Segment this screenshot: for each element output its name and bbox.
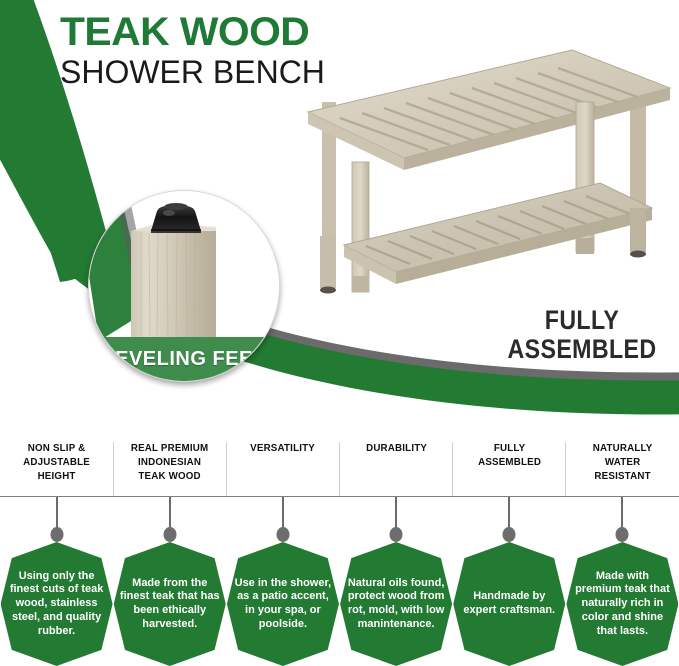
feature-hexagon: Using only the finest cuts of teak wood,…	[1, 542, 113, 666]
feature-headings-row: NON SLIP & ADJUSTABLE HEIGHT REAL PREMIU…	[0, 440, 679, 496]
leg-block	[131, 231, 216, 343]
pin-dot-icon	[276, 527, 289, 542]
feature-pin	[453, 497, 566, 547]
feature-pin	[0, 497, 113, 547]
feature-detail-text: Natural oils found, protect wood from ro…	[344, 577, 448, 632]
feature-hexagon: Use in the shower, as a patio accent, in…	[227, 542, 339, 666]
heading-line: TEAK WOOD	[117, 470, 222, 484]
heading-line: ADJUSTABLE	[4, 456, 109, 470]
heading-line: INDONESIAN	[117, 456, 222, 470]
heading-line: NON SLIP &	[4, 442, 109, 456]
feature-hexagon: Made from the finest teak that has been …	[114, 542, 226, 666]
feature-pin	[113, 497, 226, 547]
bench-foot-front-left	[352, 276, 369, 292]
heading-line: HEIGHT	[4, 470, 109, 484]
bench-foot-front-right	[576, 238, 594, 254]
heading-line: WATER	[570, 456, 675, 470]
heading-line: REAL PREMIUM	[117, 442, 222, 456]
feature-detail-text: Made with premium teak that naturally ri…	[570, 570, 674, 639]
feature-heading: DURABILITY	[343, 440, 448, 496]
pin-dot-icon	[163, 527, 176, 542]
heading-line: RESISTANT	[570, 470, 675, 484]
fully-assembled-line-1: FULLY	[505, 306, 660, 335]
bench-rubber-foot-right	[630, 251, 646, 258]
pin-line	[395, 497, 397, 529]
pin-line	[621, 497, 623, 529]
feature-heading: NATURALLY WATER RESISTANT	[570, 440, 675, 496]
pin-dot-icon	[390, 527, 403, 542]
feature-hexagon: Made with premium teak that naturally ri…	[566, 542, 678, 666]
feature-pin	[340, 497, 453, 547]
heading-line: VERSATILITY	[230, 442, 335, 456]
callout-banner: LEVELING FEET	[89, 337, 279, 381]
pin-line	[508, 497, 510, 529]
teak-bench-illustration	[300, 40, 675, 315]
bench-leg-lower-left	[320, 236, 336, 288]
feature-hexagons-row: Using only the finest cuts of teak wood,…	[0, 542, 679, 666]
feature-detail-text: Using only the finest cuts of teak wood,…	[5, 570, 109, 639]
feature-heading: REAL PREMIUM INDONESIAN TEAK WOOD	[117, 440, 222, 496]
feature-hex-cell: Made from the finest teak that has been …	[113, 542, 226, 666]
feature-hexagon: Handmade by expert craftsman.	[453, 542, 565, 666]
bench-leg-front-left	[352, 162, 369, 292]
bench-rubber-foot-left	[320, 287, 336, 294]
feature-detail-text: Handmade by expert craftsman.	[457, 590, 561, 618]
feature-hexagon: Natural oils found, protect wood from ro…	[340, 542, 452, 666]
feature-strip: NON SLIP & ADJUSTABLE HEIGHT REAL PREMIU…	[0, 440, 679, 666]
callout-banner-label: LEVELING FEET	[102, 348, 265, 371]
feature-pins-row	[0, 497, 679, 547]
feature-hex-cell: Made with premium teak that naturally ri…	[566, 542, 679, 666]
heading-line: NATURALLY	[570, 442, 675, 456]
feature-heading: FULLY ASSEMBLED	[457, 440, 562, 496]
feature-detail-text: Use in the shower, as a patio accent, in…	[231, 577, 335, 632]
feature-hex-cell: Handmade by expert craftsman.	[453, 542, 566, 666]
pin-dot-icon	[616, 527, 629, 542]
bench-leg-lower-right	[630, 208, 646, 252]
feature-hex-cell: Use in the shower, as a patio accent, in…	[226, 542, 339, 666]
fully-assembled-badge: FULLY ASSEMBLED	[505, 306, 660, 364]
infographic-page: TEAK WOOD SHOWER BENCH	[0, 0, 679, 666]
heading-line: ASSEMBLED	[457, 456, 562, 470]
feature-pin	[566, 497, 679, 547]
pin-dot-icon	[503, 527, 516, 542]
feature-heading: VERSATILITY	[230, 440, 335, 496]
pin-line	[282, 497, 284, 529]
rubber-foot-highlight	[163, 210, 175, 216]
feature-heading: NON SLIP & ADJUSTABLE HEIGHT	[4, 440, 109, 496]
feature-hex-cell: Natural oils found, protect wood from ro…	[340, 542, 453, 666]
leveling-feet-callout: LEVELING FEET	[88, 190, 280, 382]
rubber-foot-cap	[165, 203, 188, 210]
fully-assembled-line-2: ASSEMBLED	[505, 335, 660, 364]
pin-dot-icon	[50, 527, 63, 542]
product-image	[300, 40, 675, 315]
feature-hex-cell: Using only the finest cuts of teak wood,…	[0, 542, 113, 666]
pin-line	[56, 497, 58, 529]
feature-detail-text: Made from the finest teak that has been …	[118, 577, 222, 632]
pin-line	[169, 497, 171, 529]
rubber-foot-base-line	[151, 229, 201, 233]
feature-pin	[226, 497, 339, 547]
heading-line: FULLY	[457, 442, 562, 456]
heading-line: DURABILITY	[343, 442, 448, 456]
